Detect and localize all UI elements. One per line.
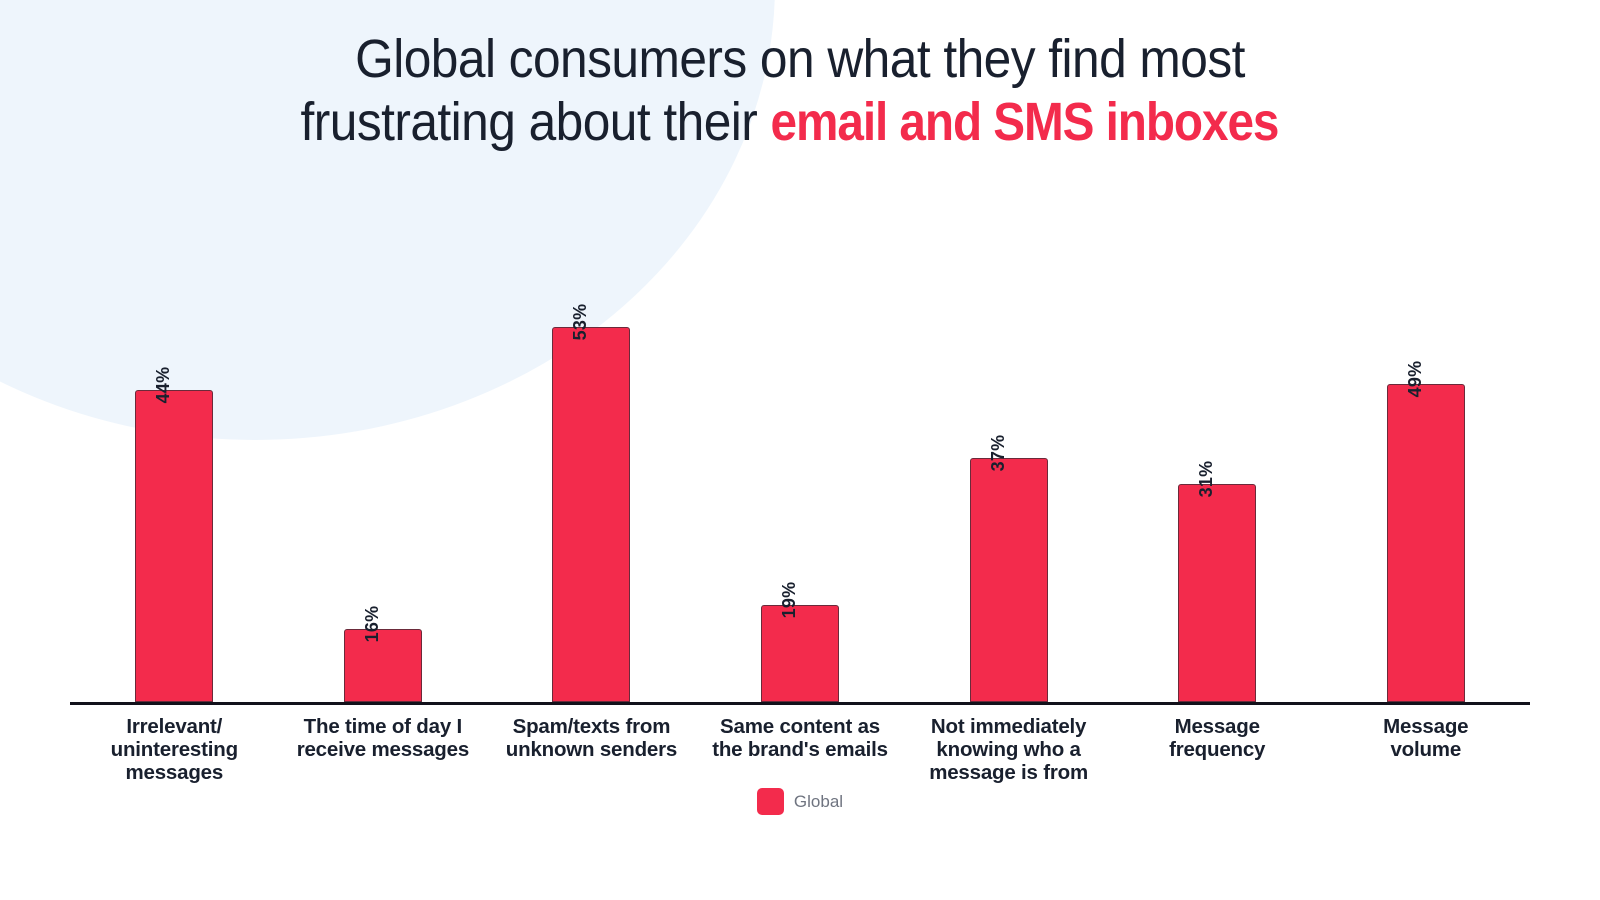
category-label: Same content asthe brand's emails xyxy=(712,716,888,762)
category-label-slot: Irrelevant/uninterestingmessages xyxy=(70,716,279,785)
bar-value-label: 53% xyxy=(570,304,591,341)
category-label: Messagevolume xyxy=(1383,716,1468,762)
category-label-slot: The time of day Ireceive messages xyxy=(279,716,488,785)
bar-slot: 53% xyxy=(487,250,696,702)
category-labels: Irrelevant/uninterestingmessagesThe time… xyxy=(70,716,1530,785)
bar-slot: 49% xyxy=(1321,250,1530,702)
bar[interactable]: 31% xyxy=(1178,484,1256,702)
category-label: The time of day Ireceive messages xyxy=(297,716,469,762)
chart-legend: Global xyxy=(0,788,1600,815)
bar-value-label: 16% xyxy=(362,606,383,643)
bar-slot: 19% xyxy=(696,250,905,702)
plot-area: 44%16%53%19%37%31%49% xyxy=(70,250,1530,705)
category-label-slot: Spam/texts fromunknown senders xyxy=(487,716,696,785)
bar-value-label: 49% xyxy=(1405,361,1426,398)
legend-item-global[interactable]: Global xyxy=(757,788,843,815)
bar[interactable]: 49% xyxy=(1387,384,1465,702)
bar-value-label: 44% xyxy=(153,367,174,404)
bar-value-label: 19% xyxy=(779,582,800,619)
bar[interactable]: 44% xyxy=(135,390,213,702)
title-line-1: Global consumers on what they find most xyxy=(64,32,1536,87)
bar-slot: 16% xyxy=(279,250,488,702)
bar[interactable]: 19% xyxy=(761,605,839,702)
legend-item-label: Global xyxy=(794,792,843,812)
bars-container: 44%16%53%19%37%31%49% xyxy=(70,250,1530,702)
category-label-slot: Same content asthe brand's emails xyxy=(696,716,905,785)
bar[interactable]: 37% xyxy=(970,458,1048,702)
bar-value-label: 37% xyxy=(988,435,1009,472)
category-label: Irrelevant/uninterestingmessages xyxy=(111,716,238,785)
category-label: Spam/texts fromunknown senders xyxy=(506,716,677,762)
bar-slot: 37% xyxy=(904,250,1113,702)
chart-canvas: Global consumers on what they find most … xyxy=(0,0,1600,900)
bar[interactable]: 16% xyxy=(344,629,422,702)
bar[interactable]: 53% xyxy=(552,327,630,702)
title-line-2: frustrating about their email and SMS in… xyxy=(64,95,1536,150)
chart-title: Global consumers on what they find most … xyxy=(0,32,1600,150)
legend-swatch-icon xyxy=(757,788,784,815)
category-label: Not immediatelyknowing who amessage is f… xyxy=(929,716,1088,785)
title-line-2-plain: frustrating about their xyxy=(300,92,770,152)
bar-value-label: 31% xyxy=(1196,461,1217,498)
bar-slot: 44% xyxy=(70,250,279,702)
category-label-slot: Not immediatelyknowing who amessage is f… xyxy=(904,716,1113,785)
x-axis-line xyxy=(70,702,1530,705)
category-label-slot: Messagefrequency xyxy=(1113,716,1322,785)
bar-slot: 31% xyxy=(1113,250,1322,702)
category-label-slot: Messagevolume xyxy=(1321,716,1530,785)
title-highlight: email and SMS inboxes xyxy=(771,95,1279,150)
category-label: Messagefrequency xyxy=(1169,716,1265,762)
